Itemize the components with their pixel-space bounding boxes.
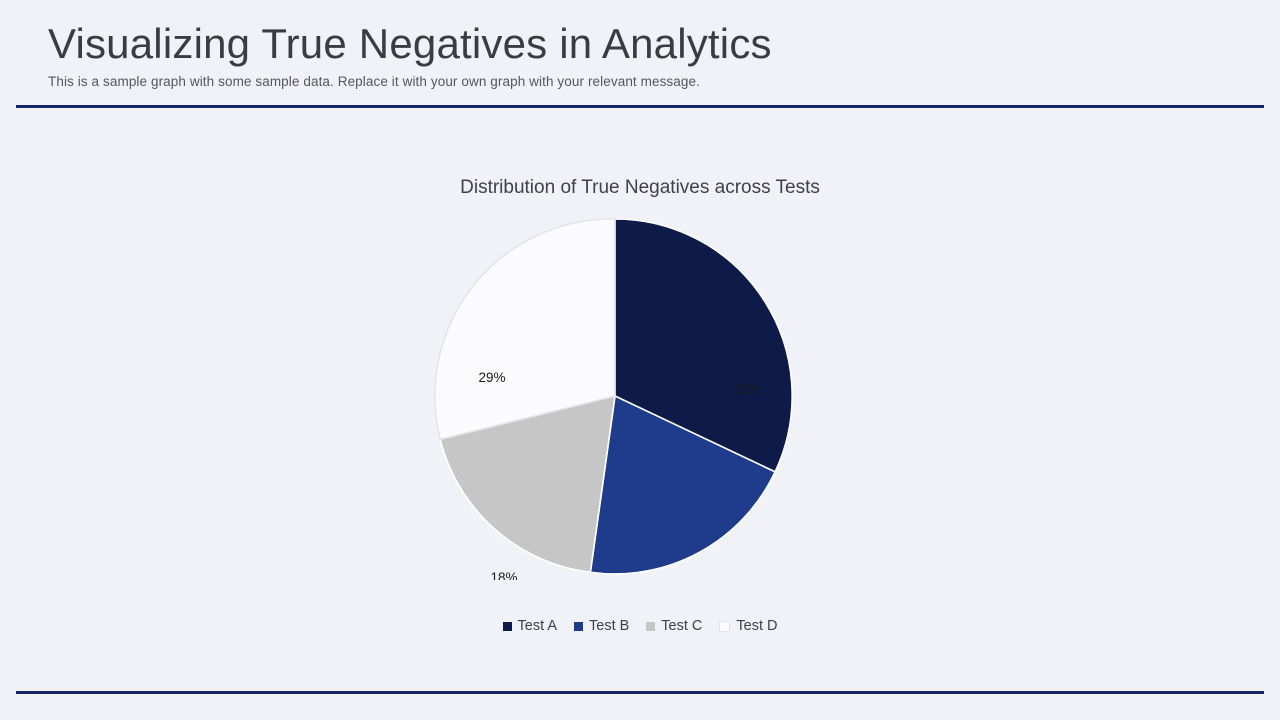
pie-label-test-a: 32%: [734, 382, 761, 397]
legend-item-test-a[interactable]: Test A: [503, 618, 558, 634]
legend-label: Test D: [736, 618, 777, 634]
pie-label-test-d: 29%: [478, 370, 505, 385]
legend-item-test-d[interactable]: Test D: [719, 618, 777, 634]
pie-label-test-c: 18%: [490, 570, 517, 580]
page-subtitle: This is a sample graph with some sample …: [48, 74, 1238, 89]
page-title: Visualizing True Negatives in Analytics: [48, 22, 1238, 66]
legend-swatch-icon: [719, 621, 730, 632]
chart-title: Distribution of True Negatives across Te…: [430, 175, 850, 202]
legend-label: Test B: [589, 618, 629, 634]
footer-divider: [16, 691, 1264, 694]
title-block: Visualizing True Negatives in Analytics …: [48, 22, 1238, 89]
header-divider: [16, 105, 1264, 108]
pie-plot-area: 32% 21% 18% 29%: [340, 212, 940, 580]
legend-item-test-c[interactable]: Test C: [646, 618, 702, 634]
legend-label: Test A: [518, 618, 558, 634]
chart-legend: Test A Test B Test C Test D: [340, 618, 940, 634]
legend-swatch-icon: [503, 622, 512, 631]
slide: Visualizing True Negatives in Analytics …: [0, 0, 1280, 720]
legend-label: Test C: [661, 618, 702, 634]
legend-item-test-b[interactable]: Test B: [574, 618, 629, 634]
legend-swatch-icon: [646, 622, 655, 631]
pie-svg: 32% 21% 18% 29%: [340, 212, 940, 580]
pie-chart: Distribution of True Negatives across Te…: [340, 175, 940, 665]
legend-swatch-icon: [574, 622, 583, 631]
